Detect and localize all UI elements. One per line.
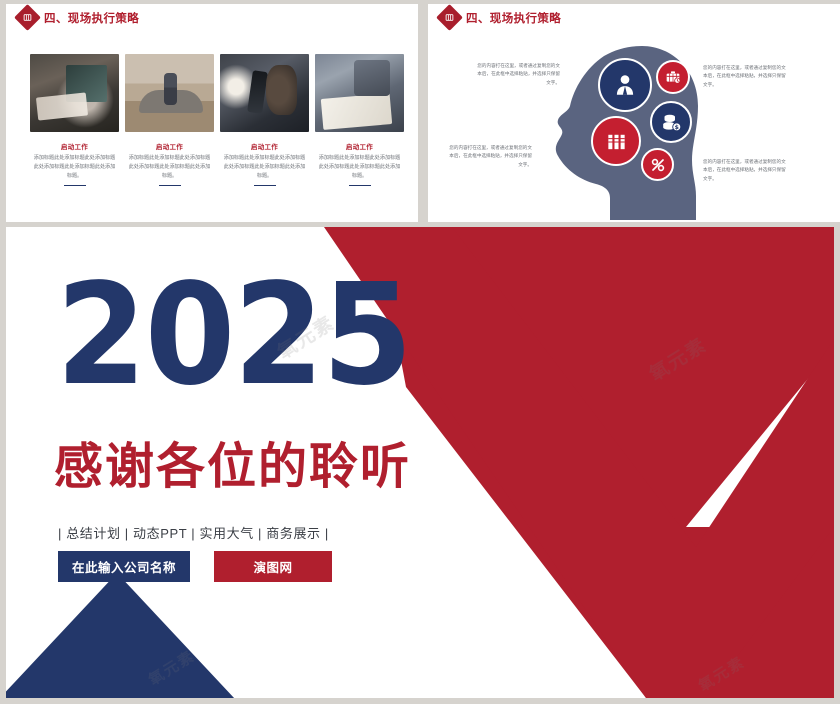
closing-slide[interactable]: 2025 感谢各位的聆听 | 总结计划 | 动态PPT | 实用大气 | 商务展…	[6, 227, 834, 698]
head-blurb-top-right: 您的内容打在这里，或者通过复制您的文本后，在此框中选择粘贴，并选择只保留文字。	[703, 64, 787, 89]
head-blurb-bottom-right: 您的内容打在这里，或者通过复制您的文本后，在此框中选择粘贴，并选择只保留文字。	[703, 158, 787, 183]
slide-a-header: 四、现场执行策略	[18, 8, 139, 27]
hand-holding-smartphone-photo	[220, 54, 309, 132]
head-silhouette-with-icon-bubbles: $	[428, 30, 840, 220]
year-heading: 2025	[56, 272, 411, 401]
photo-card[interactable]: 启动工作 添加标题此处添加标题此处添加标题此处添加标题此处添加标题此处添加标题。	[220, 54, 309, 186]
slide-b-title: 四、现场执行策略	[466, 10, 561, 26]
photo-card-title: 启动工作	[125, 141, 214, 151]
bubble-bar-chart-books[interactable]	[591, 116, 641, 166]
seal-stamp-icon	[436, 4, 463, 31]
photo-card[interactable]: 启动工作 添加标题此处添加标题此处添加标题此处添加标题此处添加标题此处添加标题。	[315, 54, 404, 186]
slide-b-header: 四、现场执行策略	[440, 8, 561, 27]
card-divider	[254, 185, 276, 187]
hand-signing-document-photo	[315, 54, 404, 132]
person-typing-on-laptop-photo	[30, 54, 119, 132]
card-divider	[64, 185, 86, 187]
photo-card-title: 启动工作	[315, 141, 404, 151]
photo-card-title: 启动工作	[30, 141, 119, 151]
head-blurb-bottom-left: 您的内容打在这里，或者通过复制您的文本后，在此框中选择粘贴，并选择只保留文字。	[448, 144, 532, 169]
bubble-user-person[interactable]	[598, 58, 652, 112]
photo-card[interactable]: 启动工作 添加标题此处添加标题此处添加标题此处添加标题此处添加标题此处添加标题。	[30, 54, 119, 186]
money-coins-icon: $	[661, 112, 682, 133]
brand-button[interactable]: 演图网	[214, 551, 332, 582]
photo-card-body: 添加标题此处添加标题此处添加标题此处添加标题此处添加标题此处添加标题。	[125, 154, 214, 181]
photo-card[interactable]: 启动工作 添加标题此处添加标题此处添加标题此处添加标题此处添加标题此处添加标题。	[125, 54, 214, 186]
card-divider	[159, 185, 181, 187]
user-person-icon	[612, 72, 638, 98]
photo-card-body: 添加标题此处添加标题此处添加标题此处添加标题此处添加标题此处添加标题。	[30, 154, 119, 181]
bubble-money-coins[interactable]: $	[650, 101, 692, 143]
slide-thumbnail-row: 四、现场执行策略 启动工作 添加标题此处添加标题此处添加标题此处添加标题此处添加…	[0, 0, 840, 225]
svg-text:$: $	[674, 124, 678, 131]
presentation-preview-page: 四、现场执行策略 启动工作 添加标题此处添加标题此处添加标题此处添加标题此处添加…	[0, 0, 840, 704]
navy-triangle	[6, 573, 235, 698]
slide-thumbnail-a[interactable]: 四、现场执行策略 启动工作 添加标题此处添加标题此处添加标题此处添加标题此处添加…	[6, 4, 418, 222]
head-blurb-top-left: 您的内容打在这里，或者通过复制您的文本后，在此框中选择粘贴，并选择只保留文字。	[476, 62, 560, 87]
slide-a-title: 四、现场执行策略	[44, 10, 139, 26]
tagline-text: | 总结计划 | 动态PPT | 实用大气 | 商务展示 |	[58, 523, 329, 542]
thank-you-heading: 感谢各位的聆听	[54, 443, 411, 492]
photo-card-title: 启动工作	[220, 141, 309, 151]
percent-icon	[650, 157, 666, 173]
bubble-percent[interactable]	[641, 148, 674, 181]
card-divider	[349, 185, 371, 187]
photo-card-list: 启动工作 添加标题此处添加标题此处添加标题此处添加标题此处添加标题此处添加标题。…	[30, 54, 404, 186]
man-sitting-on-sofa-with-laptop-photo	[125, 54, 214, 132]
seal-stamp-icon	[14, 4, 41, 31]
closing-button-row: 在此输入公司名称 演图网	[58, 551, 332, 582]
photo-card-body: 添加标题此处添加标题此处添加标题此处添加标题此处添加标题此处添加标题。	[220, 154, 309, 181]
photo-card-body: 添加标题此处添加标题此处添加标题此处添加标题此处添加标题此处添加标题。	[315, 154, 404, 181]
slide-thumbnail-b[interactable]: 四、现场执行策略	[428, 4, 840, 222]
bar-chart-books-icon	[605, 130, 628, 153]
company-name-button[interactable]: 在此输入公司名称	[58, 551, 190, 582]
briefcase-clock-icon	[665, 69, 681, 85]
bubble-briefcase-clock[interactable]	[656, 60, 690, 94]
